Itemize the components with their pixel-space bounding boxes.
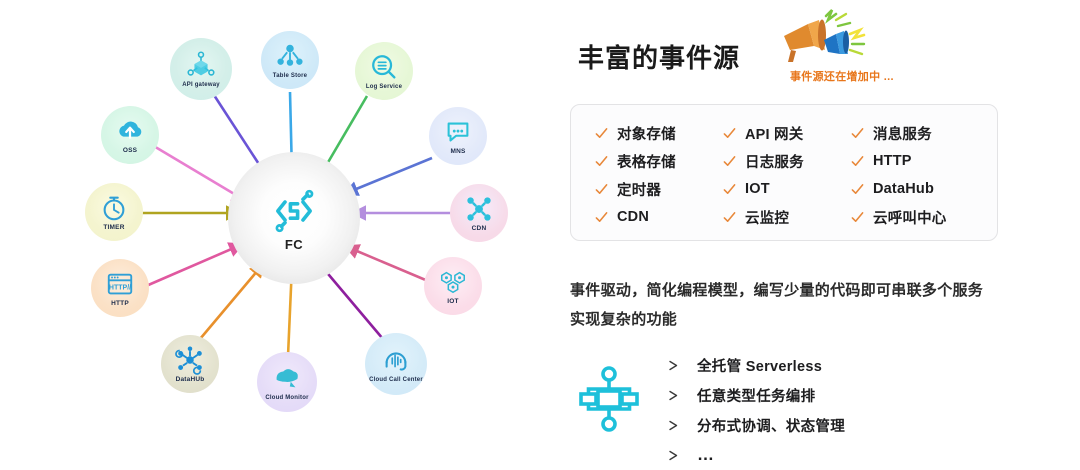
bullet-label: … xyxy=(697,445,716,465)
event-source-label: CDN xyxy=(617,209,649,225)
chevron-right-icon xyxy=(668,420,679,431)
check-icon xyxy=(595,155,608,168)
content-panel: 丰富的事件源 事件源还在增加中 ... xyxy=(540,0,1080,469)
bullet-item[interactable]: … xyxy=(668,440,998,470)
event-source-item[interactable]: CDN xyxy=(595,209,723,225)
node-label: HTTP xyxy=(111,300,129,308)
chevron-right-icon xyxy=(668,450,679,461)
workflow-orchestration-icon xyxy=(579,365,639,433)
event-source-label: 云呼叫中心 xyxy=(873,207,947,228)
check-icon xyxy=(595,183,608,196)
node-label: API gateway xyxy=(182,81,220,89)
event-source-label: DataHub xyxy=(873,181,934,197)
node-label: Table Store xyxy=(273,72,307,80)
event-source-item[interactable]: API 网关 xyxy=(723,123,851,144)
node-table-store[interactable]: Table Store xyxy=(261,31,319,89)
api-gateway-icon xyxy=(186,50,216,80)
check-icon xyxy=(723,183,736,196)
event-source-label: HTTP xyxy=(873,153,912,169)
megaphone-icon xyxy=(778,6,886,68)
node-datahub[interactable]: DataHUb xyxy=(161,335,219,393)
node-oss[interactable]: OSS xyxy=(101,106,159,164)
node-label: MNS xyxy=(450,148,465,156)
node-label: Log Service xyxy=(366,83,402,91)
node-cloud-call-center[interactable]: Cloud Call Center xyxy=(365,333,427,395)
event-source-item[interactable]: IOT xyxy=(723,181,851,197)
http-window-icon: HTTP// xyxy=(105,269,135,299)
datahub-icon xyxy=(175,345,205,375)
fc-circuit-logo-icon xyxy=(267,184,321,238)
bullet-label: 任意类型任务编排 xyxy=(697,385,815,406)
node-log-service[interactable]: Log Service xyxy=(355,42,413,100)
node-cdn[interactable]: CDN xyxy=(450,184,508,242)
iot-hexagon-icon xyxy=(438,267,468,297)
timer-stopwatch-icon xyxy=(99,193,129,223)
node-iot[interactable]: IOT xyxy=(424,257,482,315)
check-icon xyxy=(851,211,864,224)
check-icon xyxy=(595,211,608,224)
event-source-label: 消息服务 xyxy=(873,123,932,144)
node-label: OSS xyxy=(123,147,137,155)
check-icon xyxy=(851,183,864,196)
bullet-item[interactable]: 分布式协调、状态管理 xyxy=(668,410,998,440)
fc-hub[interactable]: FC xyxy=(228,152,360,284)
mns-message-icon xyxy=(443,117,473,147)
bullet-label: 分布式协调、状态管理 xyxy=(697,415,845,436)
check-icon xyxy=(723,127,736,140)
slide-root: FC API gateway Table Store xyxy=(0,0,1080,469)
chevron-right-icon xyxy=(668,390,679,401)
cloud-monitor-icon xyxy=(272,363,302,393)
event-sources-card: 对象存储 API 网关 消息服务 表格存储 日志服务 xyxy=(570,104,998,241)
event-source-label: API 网关 xyxy=(745,123,803,144)
event-source-diagram: FC API gateway Table Store xyxy=(0,0,540,469)
table-store-icon xyxy=(275,41,305,71)
node-label: DataHUb xyxy=(176,376,205,384)
event-source-item[interactable]: 云呼叫中心 xyxy=(851,207,987,228)
event-source-label: IOT xyxy=(745,181,770,197)
node-label: Cloud Call Center xyxy=(369,376,423,384)
event-source-item[interactable]: 日志服务 xyxy=(723,151,851,172)
event-source-label: 云监控 xyxy=(745,207,789,228)
node-api-gateway[interactable]: API gateway xyxy=(170,38,232,100)
event-source-label: 定时器 xyxy=(617,179,661,200)
bullet-item[interactable]: 全托管 Serverless xyxy=(668,350,998,380)
bullet-label: 全托管 Serverless xyxy=(697,355,822,376)
check-icon xyxy=(851,155,864,168)
node-label: TIMER xyxy=(103,224,124,232)
node-label: CDN xyxy=(472,225,487,233)
event-source-item[interactable]: DataHub xyxy=(851,181,987,197)
node-label: Cloud Monitor xyxy=(265,394,308,402)
feature-bullets: 全托管 Serverless 任意类型任务编排 分布式协调、状态管理 … xyxy=(668,350,998,470)
bullet-item[interactable]: 任意类型任务编排 xyxy=(668,380,998,410)
event-source-item[interactable]: 表格存储 xyxy=(595,151,723,172)
chevron-right-icon xyxy=(668,360,679,371)
node-timer[interactable]: TIMER xyxy=(85,183,143,241)
node-mns[interactable]: MNS xyxy=(429,107,487,165)
fc-hub-label: FC xyxy=(285,237,303,252)
event-sources-grid: 对象存储 API 网关 消息服务 表格存储 日志服务 xyxy=(595,119,987,231)
log-service-icon xyxy=(369,52,399,82)
cloud-call-center-icon xyxy=(381,345,411,375)
oss-cloud-upload-icon xyxy=(115,116,145,146)
event-source-label: 日志服务 xyxy=(745,151,804,172)
event-source-item[interactable]: 定时器 xyxy=(595,179,723,200)
event-source-item[interactable]: HTTP xyxy=(851,153,987,169)
svg-text:HTTP//: HTTP// xyxy=(109,284,131,291)
cdn-network-icon xyxy=(464,194,494,224)
check-icon xyxy=(723,211,736,224)
node-label: IOT xyxy=(447,298,458,306)
page-title: 丰富的事件源 xyxy=(578,38,740,75)
event-source-label: 表格存储 xyxy=(617,151,676,172)
node-cloud-monitor[interactable]: Cloud Monitor xyxy=(257,352,317,412)
event-source-item[interactable]: 消息服务 xyxy=(851,123,987,144)
event-source-item[interactable]: 云监控 xyxy=(723,207,851,228)
description-paragraph: 事件驱动，简化编程模型，编写少量的代码即可串联多个服务实现复杂的功能 xyxy=(570,276,990,334)
check-icon xyxy=(723,155,736,168)
event-source-item[interactable]: 对象存储 xyxy=(595,123,723,144)
check-icon xyxy=(595,127,608,140)
node-http[interactable]: HTTP// HTTP xyxy=(91,259,149,317)
megaphone-caption: 事件源还在增加中 ... xyxy=(790,68,894,84)
event-source-label: 对象存储 xyxy=(617,123,676,144)
check-icon xyxy=(851,127,864,140)
